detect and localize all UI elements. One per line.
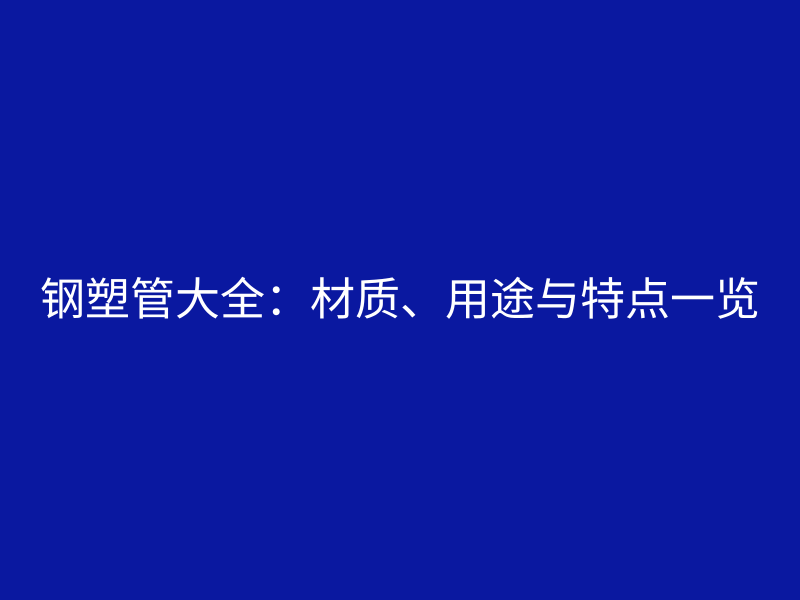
- title-card: 钢塑管大全：材质、用途与特点一览: [0, 0, 800, 600]
- page-title: 钢塑管大全：材质、用途与特点一览: [0, 273, 800, 326]
